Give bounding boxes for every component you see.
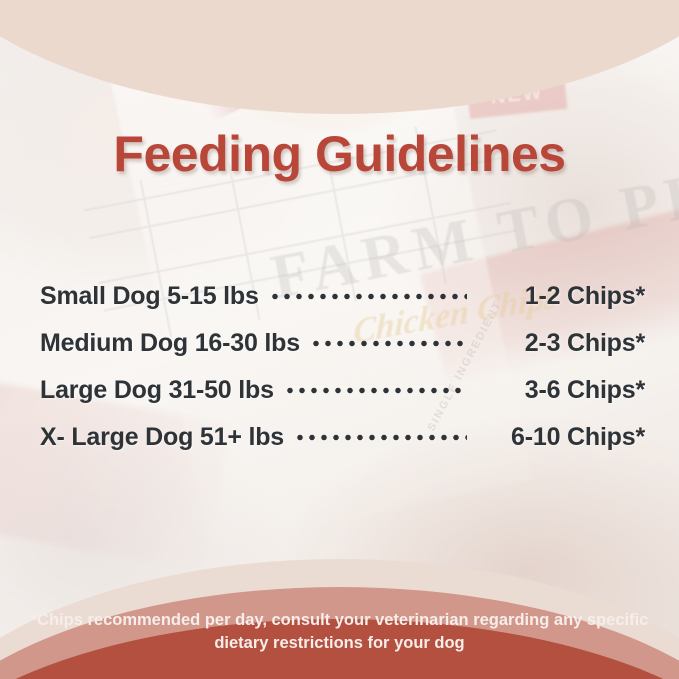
dot-leader-icon [269, 293, 467, 300]
table-row: Medium Dog 16-30 lbs 2-3 Chips* [40, 329, 645, 376]
table-row: Large Dog 31-50 lbs 3-6 Chips* [40, 376, 645, 423]
row-value-small-dog: 1-2 Chips* [477, 282, 645, 311]
dot-leader-icon [310, 340, 467, 347]
row-label-small-dog: Small Dog 5-15 lbs [40, 282, 259, 311]
row-label-medium-dog: Medium Dog 16-30 lbs [40, 329, 300, 358]
feeding-guidelines-poster: FARM TO PET Chicken Chips SINGLE INGREDI… [0, 0, 679, 679]
page-title: Feeding Guidelines [0, 125, 679, 183]
dot-leader-icon [294, 434, 467, 441]
row-label-xlarge-dog: X- Large Dog 51+ lbs [40, 423, 284, 452]
row-label-large-dog: Large Dog 31-50 lbs [40, 376, 274, 405]
row-value-xlarge-dog: 6-10 Chips* [477, 423, 645, 452]
feeding-guidelines-table: Small Dog 5-15 lbs 1-2 Chips* Medium Dog… [40, 282, 645, 470]
footer-disclaimer-text: *Chips recommended per day, consult your… [30, 609, 650, 656]
footer-bar: *Chips recommended per day, consult your… [0, 593, 679, 679]
row-value-large-dog: 3-6 Chips* [477, 376, 645, 405]
table-row: Small Dog 5-15 lbs 1-2 Chips* [40, 282, 645, 329]
row-value-medium-dog: 2-3 Chips* [477, 329, 645, 358]
dot-leader-icon [284, 387, 467, 394]
table-row: X- Large Dog 51+ lbs 6-10 Chips* [40, 423, 645, 470]
